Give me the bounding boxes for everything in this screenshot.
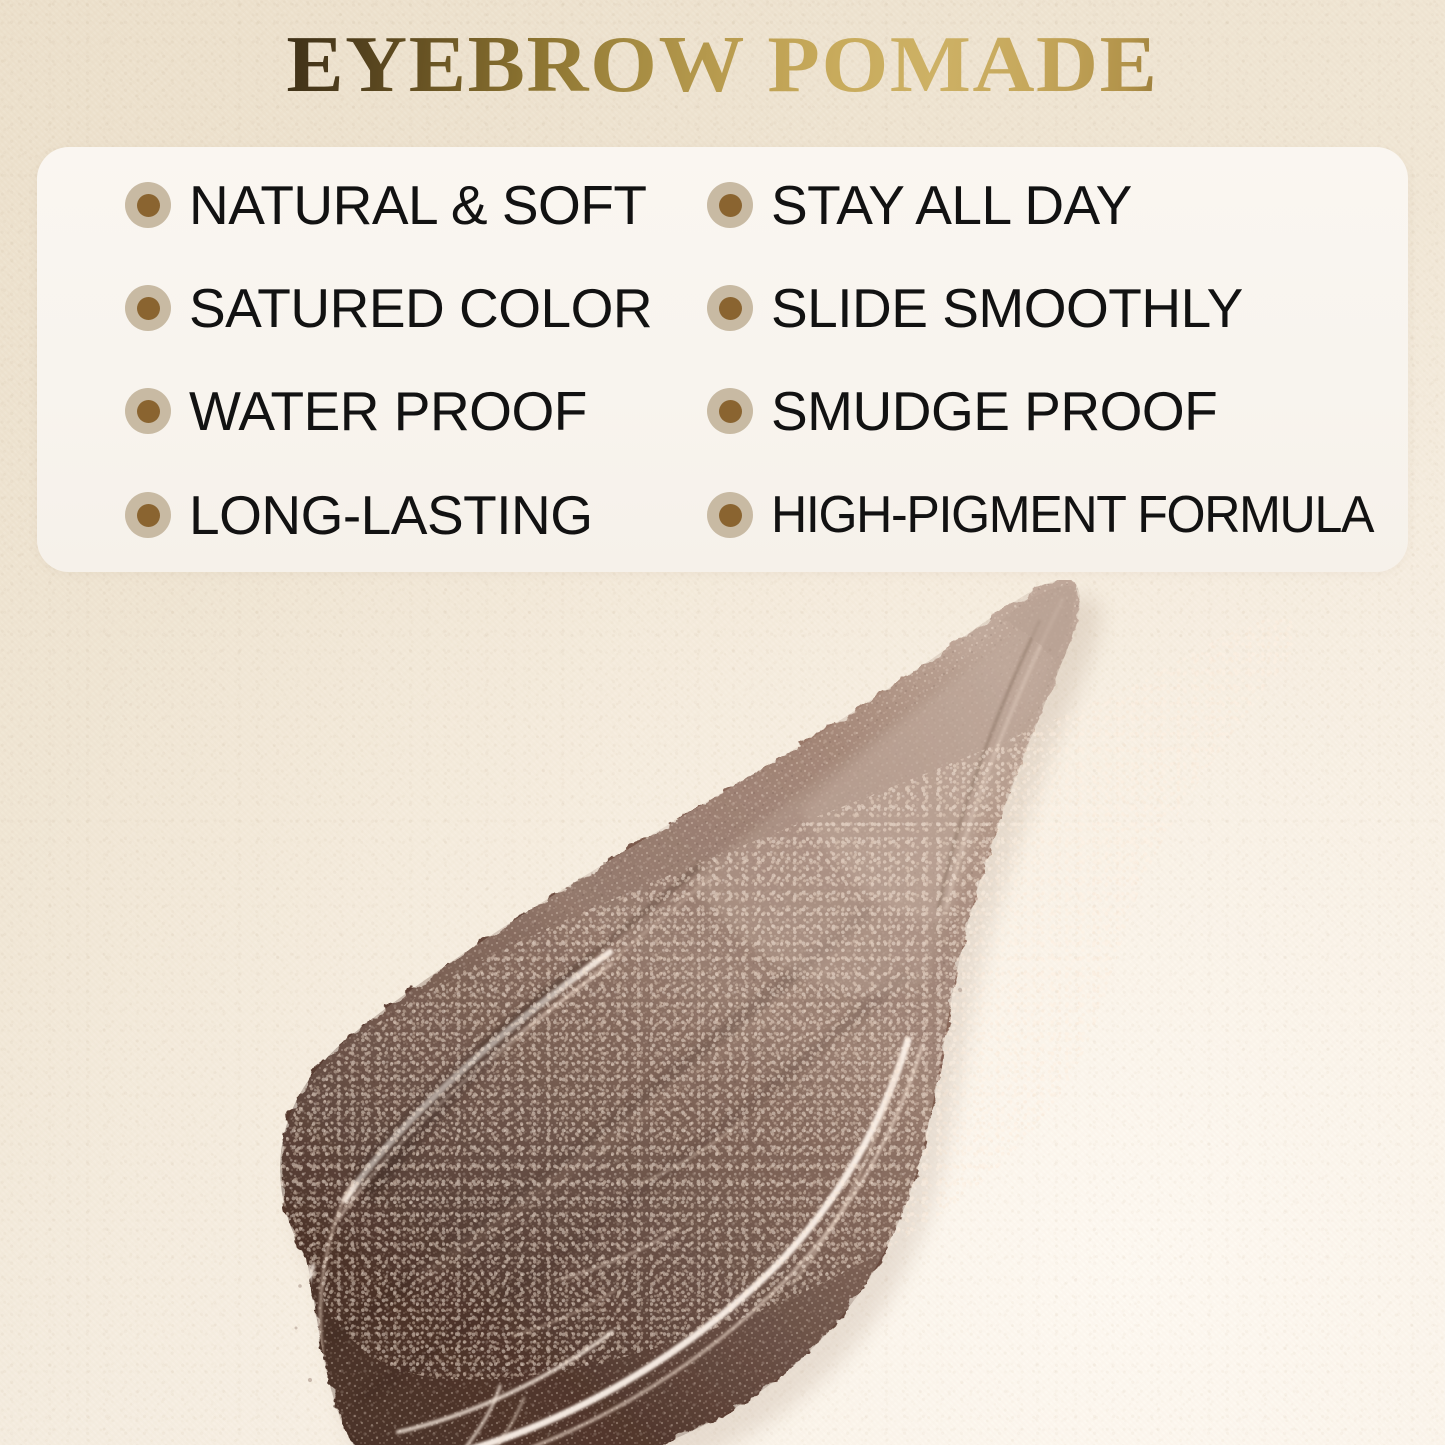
page-title-container: EYEBROW POMADE — [0, 22, 1445, 107]
feature-label: LONG-LASTING — [189, 488, 593, 543]
feature-label: STAY ALL DAY — [771, 178, 1132, 233]
feature-label: SLIDE SMOOTHLY — [771, 281, 1243, 336]
bullet-dot-icon — [707, 492, 753, 538]
feature-list-card: NATURAL & SOFT SATURED COLOR WATER PROOF… — [37, 147, 1408, 572]
bullet-dot-icon — [125, 388, 171, 434]
bullet-dot-icon — [125, 285, 171, 331]
bullet-dot-icon — [707, 285, 753, 331]
product-marketing-image: EYEBROW POMADE NATURAL & SOFT SATURED CO… — [0, 0, 1445, 1445]
feature-item-water-proof: WATER PROOF — [125, 379, 587, 443]
bullet-dot-icon — [125, 492, 171, 538]
feature-item-smudge-proof: SMUDGE PROOF — [707, 379, 1217, 443]
feature-label: NATURAL & SOFT — [189, 178, 647, 233]
feature-label: SATURED COLOR — [189, 281, 652, 336]
feature-grid: NATURAL & SOFT SATURED COLOR WATER PROOF… — [37, 147, 1408, 572]
feature-item-high-pigment-formula: HIGH-PIGMENT FORMULA — [707, 483, 1395, 547]
feature-item-satured-color: SATURED COLOR — [125, 276, 652, 340]
bullet-dot-icon — [707, 182, 753, 228]
product-swatch — [0, 580, 1445, 1445]
page-title: EYEBROW POMADE — [286, 22, 1158, 107]
feature-item-natural-and-soft: NATURAL & SOFT — [125, 173, 647, 237]
bullet-dot-icon — [707, 388, 753, 434]
feature-item-stay-all-day: STAY ALL DAY — [707, 173, 1132, 237]
swatch-shading — [0, 580, 1445, 1445]
feature-label: WATER PROOF — [189, 384, 587, 439]
feature-item-slide-smoothly: SLIDE SMOOTHLY — [707, 276, 1243, 340]
feature-label: HIGH-PIGMENT FORMULA — [771, 489, 1373, 541]
bullet-dot-icon — [125, 182, 171, 228]
feature-item-long-lasting: LONG-LASTING — [125, 483, 593, 547]
feature-label: SMUDGE PROOF — [771, 384, 1217, 439]
product-swatch-illustration — [0, 580, 1445, 1445]
